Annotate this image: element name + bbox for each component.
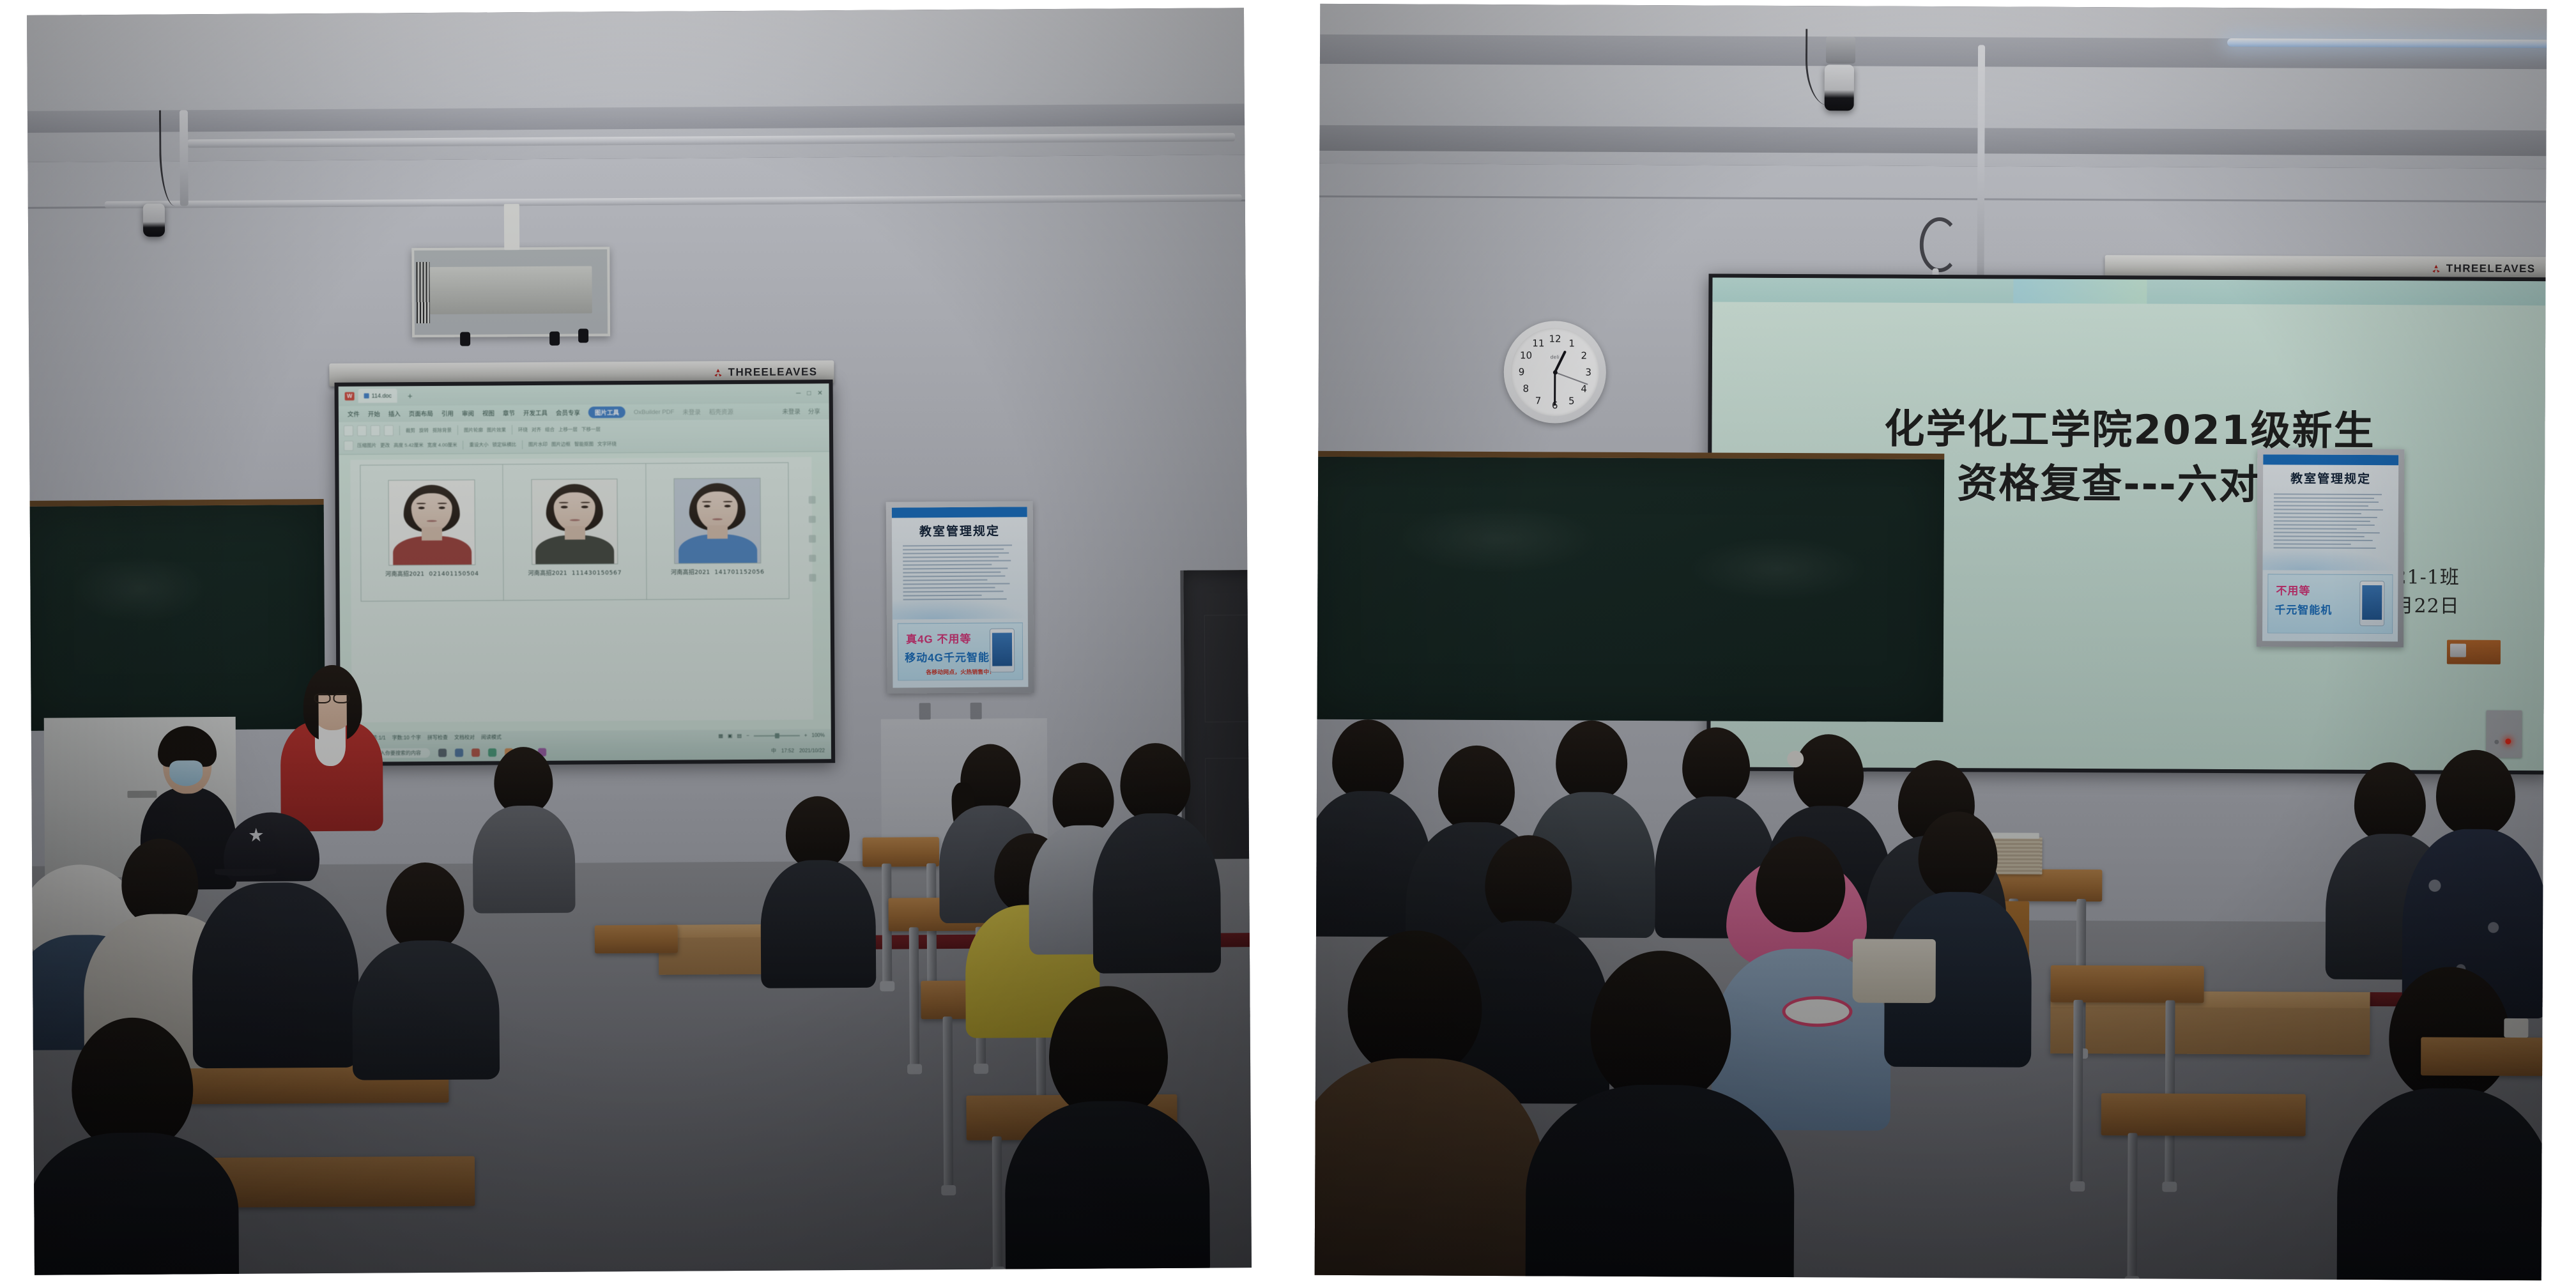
student-head-back — [1438, 746, 1515, 833]
clock-number-5: 5 — [1568, 395, 1575, 407]
poster-mount-clip — [919, 703, 931, 719]
student-head-back — [785, 796, 850, 870]
menu-item-pdf[interactable]: OxBuilder PDF — [634, 409, 674, 416]
id-photo-caption-3: 河南高招2021141701152056 — [671, 567, 765, 576]
wall-clock: deli 12 1 2 3 4 5 6 7 8 9 10 11 — [1503, 321, 1606, 424]
poster-wave-graphic — [2262, 548, 2398, 571]
layout-option-icon[interactable] — [808, 496, 815, 503]
clock-number-11: 11 — [1532, 337, 1544, 349]
zoom-level-label: 100% — [811, 733, 825, 739]
menu-item-not-logged-in[interactable]: 未登录 — [682, 408, 701, 417]
switch-button[interactable] — [2494, 740, 2499, 744]
zoom-icon[interactable] — [809, 535, 816, 542]
caption-number: 111430150567 — [572, 570, 622, 576]
ribbon-label-smart-cutout[interactable]: 智能抠图 — [574, 441, 594, 448]
taskbar-date: 2021/10/22 — [799, 747, 825, 753]
classroom-rules-poster: 教室管理规定 真4G 不用等 移动4G千元智能机 各移动网点，火热销售中！ — [892, 507, 1029, 687]
slide-top-band — [1712, 278, 2547, 306]
caption-prefix: 河南高招2021 — [385, 571, 424, 578]
student-silhouette-foreground — [1004, 986, 1210, 1275]
ribbon-button[interactable] — [384, 425, 394, 436]
projector-foot — [549, 332, 560, 346]
student-head-back — [1793, 734, 1864, 812]
student-torso — [27, 1132, 239, 1275]
clock-face: deli 12 1 2 3 4 5 6 7 8 9 10 11 — [1511, 328, 1599, 416]
photo-neck — [707, 525, 728, 539]
ribbon-button[interactable] — [371, 425, 380, 436]
clock-number-7: 7 — [1535, 395, 1542, 407]
student-head-back — [1756, 836, 1846, 933]
hair-scrunchie — [1787, 751, 1804, 767]
clock-number-2: 2 — [1581, 349, 1588, 361]
clock-number-1: 1 — [1568, 337, 1575, 349]
desk-leg — [2127, 1133, 2138, 1280]
ribbon-label-height[interactable]: 高度 5.42厘米 — [394, 441, 424, 448]
wps-logo-icon: W — [345, 392, 355, 400]
wps-tab-label: 114.doc — [372, 393, 392, 399]
student-torso — [1526, 1084, 1795, 1280]
poster-wave-graphic — [893, 597, 1028, 619]
clock-number-8: 8 — [1523, 383, 1529, 394]
paper-cup — [2504, 1018, 2528, 1038]
ad-headline-2: 千元智能机 — [2274, 601, 2332, 617]
id-photo-3[interactable] — [674, 478, 762, 564]
presenter-glasses — [333, 693, 349, 703]
ribbon-label-send-backward[interactable]: 下移一层 — [581, 425, 601, 433]
ribbon-label-reset-size[interactable]: 重设大小 — [469, 441, 488, 448]
student-head-back — [1485, 835, 1572, 931]
id-photo-1[interactable] — [388, 480, 476, 566]
clock-brand-label: deli — [1551, 355, 1560, 360]
account-area[interactable]: 未登录 分享 — [782, 407, 820, 416]
poster-title: 教室管理规定 — [892, 521, 1027, 539]
clock-number-10: 10 — [1520, 349, 1532, 361]
status-wordcount: 字数:10 个字 — [392, 735, 421, 742]
new-tab-icon[interactable]: + — [408, 391, 413, 401]
ad-headline-2: 移动4G千元智能机 — [905, 648, 1001, 665]
view-mode-icon[interactable]: ▦ — [718, 733, 723, 739]
ribbon-separator — [463, 440, 463, 449]
clock-hour-hand — [1554, 350, 1567, 372]
clock-number-4: 4 — [1581, 383, 1587, 395]
page-view-icon[interactable]: ▣ — [728, 733, 733, 739]
clock-number-3: 3 — [1585, 367, 1591, 378]
ribbon-label-rotate[interactable]: 旋转 — [419, 427, 429, 434]
ribbon-label-effects[interactable]: 图片效果 — [487, 426, 506, 433]
ribbon-button[interactable] — [357, 425, 367, 436]
blackboard — [1315, 451, 1945, 722]
more-icon[interactable] — [809, 574, 816, 581]
doc-file-icon — [364, 394, 369, 399]
hanging-pipe — [1977, 45, 1985, 287]
status-reading-mode[interactable]: 阅读模式 — [481, 734, 502, 741]
student-head-back — [72, 1017, 194, 1152]
menu-item-view[interactable]: 视图 — [482, 409, 494, 418]
switch-led-indicator — [2505, 739, 2511, 744]
projection-screen[interactable]: W 114.doc + ─ □ ✕ — [335, 379, 836, 766]
status-spellcheck[interactable]: 拼写检查 — [427, 734, 448, 741]
classroom-rules-poster-frame: 教室管理规定 真4G 不用等 移动4G千元智能机 各移动网点，火热销售中！ — [886, 501, 1034, 693]
student-head-back — [1556, 720, 1628, 801]
student-head-back — [2436, 749, 2516, 837]
clock-second-hand — [1555, 372, 1588, 385]
clock-number-9: 9 — [1519, 366, 1525, 378]
student-silhouette-foreground — [27, 1017, 239, 1275]
ribbon-label-crop[interactable]: 裁剪 — [406, 427, 415, 434]
student-head-back — [494, 747, 553, 815]
door-panel — [1204, 615, 1252, 723]
presenter-woman — [280, 664, 383, 831]
file-explorer-icon[interactable] — [455, 749, 463, 757]
student-torso — [473, 806, 576, 914]
clock-center-pin — [1552, 370, 1557, 374]
classroom-rules-poster-frame: 教室管理规定 不用等 千元智能机 — [2257, 448, 2404, 647]
student-desk — [2101, 1093, 2306, 1136]
zoom-in-icon[interactable]: + — [804, 733, 808, 739]
three-leaf-logo-icon — [2431, 263, 2442, 273]
clock-minute-hand — [1554, 372, 1556, 405]
student-head-back — [2389, 967, 2511, 1101]
screen-brand: THREELEAVES — [713, 365, 818, 379]
ribbon-separator — [399, 426, 400, 435]
menu-item-review[interactable]: 审阅 — [462, 409, 474, 418]
account-label[interactable]: 未登录 — [782, 407, 801, 416]
ceiling-camera — [143, 204, 165, 237]
ad-phone-image — [990, 629, 1015, 673]
caption-number: 141701152056 — [714, 569, 764, 576]
caption-number: 021401150504 — [429, 571, 479, 577]
wps-titlebar: W 114.doc + ─ □ ✕ — [339, 383, 829, 406]
projector-body — [430, 266, 592, 314]
outline-view-icon[interactable]: ▤ — [737, 733, 742, 739]
chalk-smudge — [73, 555, 208, 623]
ribbon-label-text-wrap[interactable]: 文字环绕 — [597, 441, 617, 448]
poster-header-bar — [2263, 454, 2398, 465]
student-silhouette-foreground — [2337, 967, 2547, 1280]
screen-brand-label: THREELEAVES — [2446, 263, 2536, 276]
ime-indicator[interactable]: 中 — [771, 747, 776, 755]
student-head-back — [1332, 719, 1404, 800]
ribbon-button[interactable] — [344, 440, 353, 451]
ribbon-row-2[interactable]: 压缩图片 更改 高度 5.42厘米 宽度 4.00厘米 重设大小 锁定纵横比 图… — [344, 436, 824, 452]
table-cell[interactable]: 河南高招2021021401150504 — [360, 464, 504, 601]
ribbon-button[interactable] — [344, 425, 353, 436]
floating-image-toolbar[interactable] — [806, 478, 818, 599]
hose-loop — [1920, 217, 1959, 272]
menu-item-layout[interactable]: 页面布局 — [409, 409, 433, 418]
wps-document-tab[interactable]: 114.doc — [358, 389, 397, 403]
mobile-4g-advertisement: 不用等 千元智能机 — [2268, 574, 2393, 634]
student-brown-coat — [1315, 1058, 1545, 1281]
ribbon-label-align[interactable]: 对齐 — [532, 426, 541, 433]
student-desk — [2421, 1037, 2547, 1076]
ribbon-label-bring-forward[interactable]: 上移一层 — [558, 426, 578, 433]
close-icon[interactable]: ✕ — [817, 390, 822, 397]
circuit-breaker-box — [2447, 640, 2501, 664]
projector-cage — [411, 247, 610, 337]
student-torso — [2337, 1088, 2547, 1280]
three-leaf-logo-icon — [713, 367, 724, 378]
task-view-icon[interactable] — [438, 749, 447, 757]
student-head-back — [1347, 930, 1482, 1078]
canvas-tote-bag — [1853, 939, 1936, 1003]
document-canvas[interactable]: 河南高招2021021401150504 — [351, 457, 813, 723]
taskbar-clock: 17:52 — [781, 747, 794, 753]
photo-collage: THREELEAVES W 114.doc + — [0, 0, 2576, 1288]
poster-mount-clip — [970, 703, 982, 719]
student-torso — [1092, 813, 1222, 973]
student-head-back — [386, 862, 464, 953]
desk-leg — [909, 927, 919, 1074]
photo-table: 河南高招2021021401150504 — [360, 462, 790, 601]
id-photo-2[interactable] — [531, 479, 618, 565]
menu-item-devtools[interactable]: 开发工具 — [523, 408, 548, 417]
zoom-slider[interactable] — [754, 735, 800, 736]
ribbon-separator — [457, 425, 458, 434]
ad-headline-1: 不用等 — [2276, 581, 2310, 597]
crop-icon[interactable] — [809, 516, 816, 523]
desk-leg — [992, 1137, 1002, 1275]
id-photo-caption-1: 河南高招2021021401150504 — [385, 569, 479, 578]
hanging-lamp — [1825, 65, 1854, 111]
student-torso — [1004, 1101, 1210, 1275]
student-silhouette — [1092, 742, 1221, 973]
student-head-back — [121, 838, 199, 926]
ribbon-label-width[interactable]: 宽度 4.00厘米 — [427, 441, 457, 448]
mobile-4g-advertisement: 真4G 不用等 移动4G千元智能机 各移动网点，火热销售中！ — [898, 622, 1023, 680]
right-photo: deli 12 1 2 3 4 5 6 7 8 9 10 11 — [1315, 4, 2547, 1280]
ribbon-label-change[interactable]: 更改 — [380, 442, 390, 449]
caption-prefix: 河南高招2021 — [528, 570, 567, 576]
maximize-icon[interactable]: □ — [807, 390, 811, 397]
cap-brim — [215, 868, 276, 876]
student-head-back — [1590, 951, 1731, 1105]
menu-item-picture-tools-active[interactable]: 图片工具 — [588, 407, 625, 418]
table-cell[interactable]: 河南高招2021111430150567 — [503, 464, 647, 600]
projector-vents — [416, 262, 430, 323]
screen-brand-label: THREELEAVES — [728, 365, 818, 379]
screen-brand: THREELEAVES — [2431, 262, 2536, 275]
ribbon-label-wrap[interactable]: 环绕 — [518, 426, 528, 433]
presenter-glasses — [314, 693, 330, 703]
face-mask — [169, 760, 203, 786]
menu-item-section[interactable]: 章节 — [503, 409, 515, 418]
student-silhouette — [472, 747, 576, 914]
ribbon-label-removebg[interactable]: 抠除背景 — [433, 427, 452, 434]
left-photo: THREELEAVES W 114.doc + — [27, 8, 1252, 1275]
student-desk — [2051, 965, 2204, 1003]
ribbon-label-lock-ratio[interactable]: 锁定纵横比 — [492, 441, 516, 448]
ad-subline: 各移动网点，火热销售中！ — [926, 667, 995, 676]
photo-neck — [422, 527, 442, 540]
wps-document-window[interactable]: W 114.doc + ─ □ ✕ — [339, 383, 832, 762]
ribbon-label-outline[interactable]: 图片轮廓 — [464, 427, 483, 434]
wps-ribbon[interactable]: 裁剪 旋转 抠除背景 图片轮廓 图片效果 环绕 对齐 组合 上移一层 — [339, 420, 829, 455]
id-photo-caption-2: 河南高招2021111430150567 — [528, 568, 622, 577]
student-head-back — [1682, 727, 1751, 804]
projector-foot — [460, 332, 470, 346]
ribbon-label-compress[interactable]: 压缩图片 — [357, 442, 376, 449]
student-torso — [352, 940, 500, 1080]
menu-item-docer[interactable]: 稻壳资源 — [709, 408, 733, 417]
minimize-icon[interactable]: ─ — [796, 390, 801, 397]
taskbar-tray[interactable]: 中 17:52 2021/10/22 — [771, 747, 825, 755]
caption-prefix: 河南高招2021 — [671, 569, 710, 576]
poster-header-bar — [892, 507, 1027, 517]
menu-item-insert[interactable]: 插入 — [388, 410, 401, 418]
ribbon-row-1[interactable]: 裁剪 旋转 抠除背景 图片轮廓 图片效果 环绕 对齐 组合 上移一层 — [344, 422, 824, 438]
student-head-back — [1048, 986, 1168, 1119]
clock-number-12: 12 — [1549, 333, 1561, 344]
student-silhouette-foreground — [1315, 930, 1546, 1281]
lamp-bracket — [1826, 36, 1855, 63]
student-silhouette — [760, 796, 876, 988]
desk-leg — [2073, 1000, 2083, 1192]
ribbon-label-border[interactable]: 图片边框 — [551, 441, 571, 448]
student-silhouette-foreground — [1526, 950, 1795, 1280]
student-head-back — [1120, 743, 1191, 823]
ad-headline-1: 真4G 不用等 — [906, 630, 972, 647]
projector-mount-pole — [504, 204, 519, 250]
student-torso — [760, 860, 876, 988]
menu-item-member[interactable]: 会员专享 — [556, 408, 580, 417]
status-proofread[interactable]: 文档校对 — [454, 734, 475, 741]
ribbon-label-watermark[interactable]: 图片水印 — [528, 441, 548, 448]
projector-foot — [578, 328, 588, 342]
rotate-icon[interactable] — [809, 555, 816, 562]
ribbon-label-group[interactable]: 组合 — [545, 426, 555, 433]
table-cell[interactable]: 河南高招2021141701152056 — [646, 463, 789, 599]
status-right[interactable]: ▦ ▣ ▤ − + 100% — [718, 733, 825, 739]
student-head-back — [1918, 811, 1998, 900]
chalk-smudge — [1394, 504, 1598, 573]
student-desk — [595, 925, 678, 954]
chalk-smudge — [1688, 537, 1867, 601]
menu-item-home[interactable]: 开始 — [368, 410, 380, 418]
zoom-out-icon[interactable]: − — [746, 733, 749, 739]
desk-leg — [943, 1016, 954, 1195]
menu-item-file[interactable]: 文件 — [348, 410, 360, 418]
os-taskbar[interactable]: ⚲ 在这里输入你要搜索的内容 中 — [341, 742, 831, 762]
share-label[interactable]: 分享 — [808, 407, 820, 416]
poster-title: 教室管理规定 — [2263, 470, 2398, 487]
window-controls[interactable]: ─ □ ✕ — [796, 390, 823, 397]
photo-neck — [564, 526, 585, 539]
ribbon-separator — [512, 425, 512, 434]
ribbon-separator — [522, 440, 523, 449]
menu-item-reference[interactable]: 引用 — [441, 409, 454, 418]
ad-phone-image — [2359, 581, 2384, 626]
classroom-rules-poster: 教室管理规定 不用等 千元智能机 — [2262, 454, 2398, 641]
